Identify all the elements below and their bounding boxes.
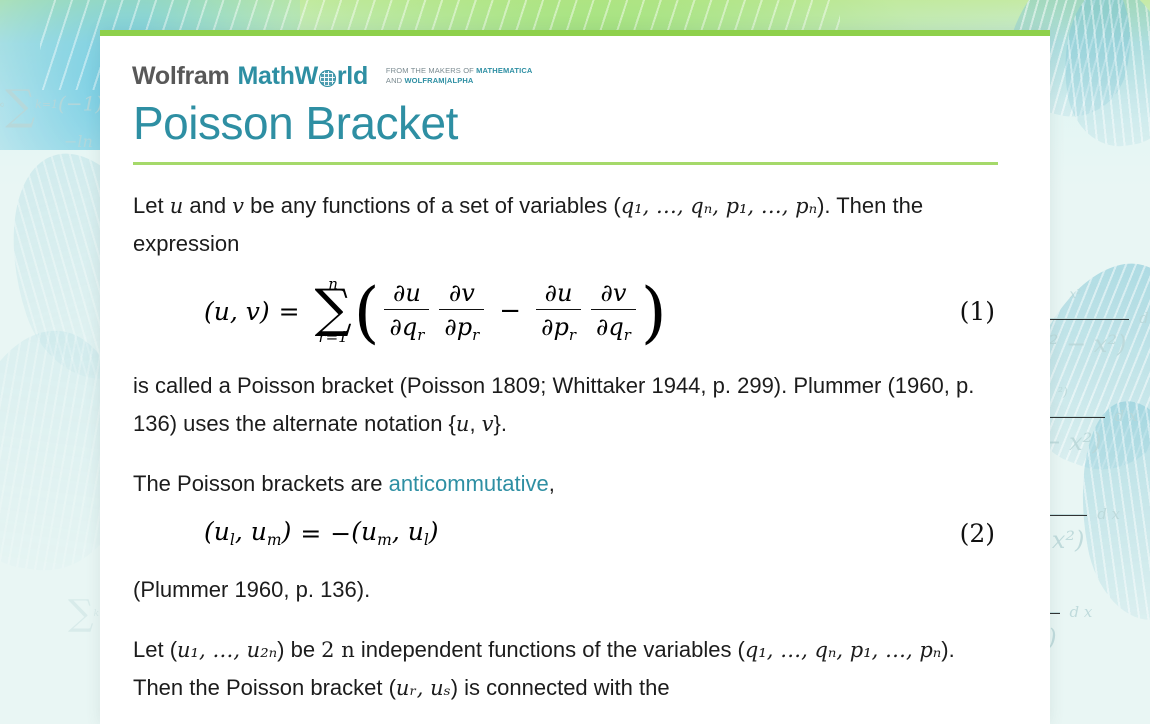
eq1-t1-den-sub: r xyxy=(417,326,424,344)
eq2-lhs-comma: , xyxy=(235,517,251,546)
logo-mathworld-prefix: MathW xyxy=(237,62,317,91)
eq1-term3-fraction: ∂u ∂pr xyxy=(536,279,581,344)
eq2-lhs-u2: u xyxy=(251,517,267,546)
p5-variable-list-1: u₁, …, u₂ₙ xyxy=(177,638,277,662)
bg-sum-lower-limit: k=1 xyxy=(35,98,58,111)
p3-text-a: The Poisson brackets are xyxy=(133,471,389,496)
p5-bracket-vars: uᵣ, uₛ xyxy=(396,676,451,700)
p2-var-u: u xyxy=(456,412,470,436)
p5-text-e: ) is connected with the xyxy=(451,675,670,700)
equation-2-number: (2) xyxy=(960,519,997,548)
p5-variable-list-2: q₁, …, qₙ, p₁, …, pₙ xyxy=(745,638,941,662)
equation-2-row: (ul, um) = − (um, ul) (2) xyxy=(132,517,997,549)
eq1-term2-fraction: ∂v ∂pr xyxy=(439,279,484,344)
p1-variable-list: q₁, …, qₙ, p₁, …, pₙ xyxy=(621,194,817,218)
bg-sum-glyph: ∑ xyxy=(5,80,35,129)
eq2-equals: = xyxy=(300,519,321,548)
page-title: Poisson Bracket xyxy=(133,97,1018,150)
p5-text-c: independent functions of the variables ( xyxy=(355,637,745,662)
p1-text-c: be any functions of a set of variables ( xyxy=(244,193,621,218)
eq2-lhs: (ul, um) xyxy=(204,517,291,549)
tagline-wolframalpha: WOLFRAM|ALPHA xyxy=(404,76,473,85)
logo-wolfram-text: Wolfram xyxy=(132,62,229,91)
eq2-lhs-u1: u xyxy=(214,517,230,546)
p2-text-a: is called a Poisson bracket (Poisson 180… xyxy=(133,373,974,436)
paragraph-citation: is called a Poisson bracket (Poisson 180… xyxy=(133,367,998,443)
bg-dx: d x xyxy=(1139,309,1150,327)
eq1-t4-denominator: ∂qr xyxy=(591,309,636,344)
eq2-rhs-open: ( xyxy=(351,517,361,546)
eq1-term1-fraction: ∂u ∂qr xyxy=(384,279,429,344)
title-divider xyxy=(133,162,998,165)
eq1-sum-lower: r=1 xyxy=(318,330,347,346)
p1-var-u: u xyxy=(170,194,184,218)
p5-text-a: Let ( xyxy=(133,637,177,662)
paragraph-anticommutative: The Poisson brackets are anticommutative… xyxy=(133,465,998,503)
eq1-t1-denominator: ∂qr xyxy=(384,309,429,344)
tagline-line1-prefix: FROM THE MAKERS OF xyxy=(386,66,476,75)
p5-text-b: ) be xyxy=(277,637,321,662)
eq2-rhs-comma: , xyxy=(392,517,408,546)
eq1-t4-den-main: ∂q xyxy=(596,313,624,341)
eq1-minus-operator: − xyxy=(499,296,521,326)
eq1-t1-numerator: ∂u xyxy=(388,279,426,309)
equation-1-number: (1) xyxy=(960,297,997,326)
p1-var-v: v xyxy=(232,194,244,218)
site-logo[interactable]: Wolfram MathWrld FROM THE MAKERS OF MATH… xyxy=(132,62,1018,91)
bg-sum-body: (−1) xyxy=(58,92,103,116)
bg-dx: d x xyxy=(1069,603,1092,621)
eq2-lhs-open: ( xyxy=(204,517,214,546)
bg-ln-text: −ln xyxy=(64,132,93,151)
eq1-lhs: (u, v) xyxy=(204,297,270,326)
eq1-t3-den-main: ∂p xyxy=(541,313,569,341)
p2-var-v: v xyxy=(482,412,494,436)
eq2-rhs-u2: u xyxy=(408,517,424,546)
page-root: ∞ ∑ k=1 (−1)k−1 −ln ∑k=1 x² (b² − x²) d … xyxy=(0,0,1150,724)
eq1-t3-numerator: ∂u xyxy=(540,279,578,309)
eq1-term4-fraction: ∂v ∂qr xyxy=(591,279,636,344)
eq2-lhs-sub2: m xyxy=(267,531,282,549)
tagline-mathematica: MATHEMATICA xyxy=(476,66,532,75)
eq1-summation: n ∑ r=1 xyxy=(315,277,352,345)
logo-mathworld-suffix: rld xyxy=(337,62,368,91)
p5-two-n: 2 n xyxy=(321,638,355,662)
globe-icon xyxy=(319,70,336,87)
bg-dx: d x xyxy=(1114,407,1137,425)
eq1-t2-denominator: ∂pr xyxy=(439,309,484,344)
eq1-t3-denominator: ∂pr xyxy=(536,309,581,344)
eq1-t3-den-sub: r xyxy=(569,326,576,344)
eq2-rhs-sub1: m xyxy=(377,531,392,549)
eq1-t1-den-main: ∂q xyxy=(389,313,417,341)
eq1-t4-numerator: ∂v xyxy=(595,279,631,309)
background-formula-ln: −ln xyxy=(64,132,93,151)
link-anticommutative[interactable]: anticommutative xyxy=(389,471,549,496)
eq1-sum-glyph: ∑ xyxy=(315,290,352,328)
eq1-t2-den-sub: r xyxy=(472,326,479,344)
eq2-rhs: (um, ul) xyxy=(351,517,438,549)
p3-text-b: , xyxy=(549,471,555,496)
p2-text-b: }. xyxy=(494,411,507,436)
paragraph-definition: Let u and v be any functions of a set of… xyxy=(133,187,998,263)
logo-mathworld-text: MathWrld xyxy=(237,62,367,91)
tagline-line2-prefix: AND xyxy=(386,76,405,85)
eq2-rhs-close: ) xyxy=(429,517,439,546)
bg-dx: d x xyxy=(1097,505,1120,523)
eq1-t2-numerator: ∂v xyxy=(444,279,480,309)
p1-text-b: and xyxy=(183,193,232,218)
p2-comma: , xyxy=(469,411,481,436)
equation-1-body: (u, v) = n ∑ r=1 ( ∂u ∂qr ∂v ∂pr xyxy=(132,277,960,345)
eq1-equals: = xyxy=(279,297,300,326)
bg-sum2-glyph: ∑ xyxy=(68,593,93,634)
eq1-t4-den-sub: r xyxy=(624,326,631,344)
eq2-lhs-close: ) xyxy=(282,517,292,546)
equation-1-row: (u, v) = n ∑ r=1 ( ∂u ∂qr ∂v ∂pr xyxy=(132,277,997,345)
content-card: Wolfram MathWrld FROM THE MAKERS OF MATH… xyxy=(100,30,1050,724)
p1-text-a: Let xyxy=(133,193,170,218)
paragraph-plummer-ref: (Plummer 1960, p. 136). xyxy=(133,571,998,609)
paragraph-independent-functions: Let (u₁, …, u₂ₙ) be 2 n independent func… xyxy=(133,631,998,707)
eq2-rhs-u1: u xyxy=(361,517,377,546)
equation-2-body: (ul, um) = − (um, ul) xyxy=(132,517,960,549)
eq2-negation: − xyxy=(330,519,351,548)
eq1-t2-den-main: ∂p xyxy=(444,313,472,341)
logo-tagline: FROM THE MAKERS OF MATHEMATICA AND WOLFR… xyxy=(376,66,533,85)
